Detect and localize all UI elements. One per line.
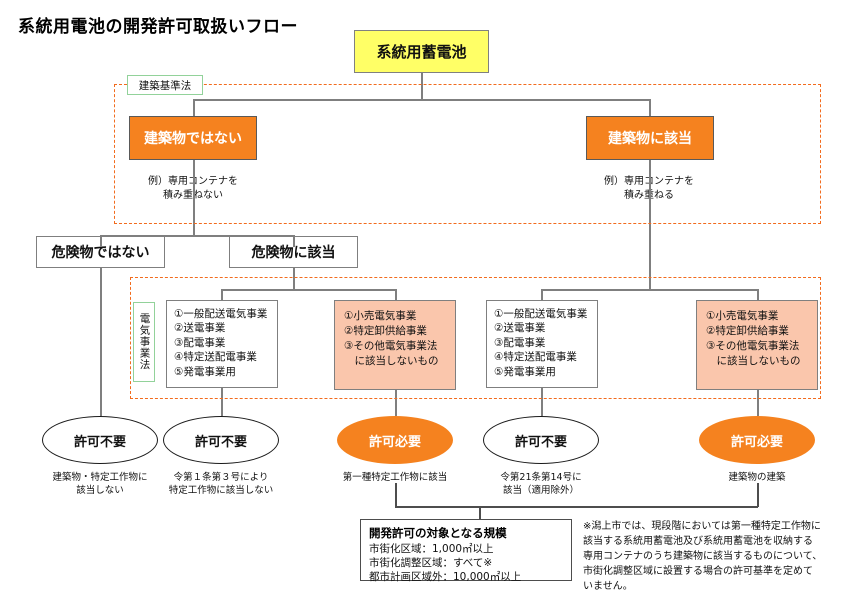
outcome-1-caption: 建築物・特定工作物に 該当しない	[34, 472, 166, 498]
outcome-2-ellipse[interactable]: 許可不要	[163, 416, 279, 464]
outcome-3-label: 許可必要	[369, 431, 421, 450]
connector-scale-bracket-stem	[479, 506, 481, 520]
electricity-law-region	[130, 277, 821, 399]
outcome-1-ellipse[interactable]: 許可不要	[42, 416, 158, 464]
scale-box-line: 都市計画区域外：10,000㎡以上	[369, 570, 563, 584]
outcome-5-label: 許可必要	[731, 431, 783, 450]
scale-box-line: 市街化区域：1,000㎡以上	[369, 542, 563, 556]
connector-outcome3-bracket-down	[395, 483, 397, 507]
outcome-4-label: 許可不要	[515, 431, 567, 450]
page-title: 系統用電池の開発許可取扱いフロー	[18, 12, 298, 37]
outcome-5-ellipse[interactable]: 許可必要	[699, 416, 815, 464]
footnote-text: ※潟上市では、現段階においては第一種特定工作物に 該当する系統用蓄電池及び系統用…	[583, 519, 835, 594]
scale-box-line: 市街化調整区域：すべて※	[369, 556, 563, 570]
connector-level2-bus	[100, 235, 294, 237]
building-law-region	[114, 84, 821, 224]
scale-box: 開発許可の対象となる規模 市街化区域：1,000㎡以上 市街化調整区域：すべて※…	[360, 519, 572, 581]
connector-to-not-hazardous	[100, 235, 102, 247]
outcome-3-ellipse[interactable]: 許可必要	[337, 416, 453, 464]
flowchart-canvas: 系統用電池の開発許可取扱いフロー 系統用蓄電池 建築基準法 電気事業法	[0, 0, 842, 595]
chip-electricity-law: 電気事業法	[133, 302, 155, 382]
outcome-1-label: 許可不要	[74, 431, 126, 450]
connector-not-hazardous-down	[100, 268, 102, 416]
outcome-2-caption: 令第１条第３号により 特定工作物に該当しない	[155, 472, 287, 498]
connector-to-is-hazardous	[293, 235, 295, 247]
chip-electricity-law-label: 電気事業法	[139, 313, 150, 371]
node-root[interactable]: 系統用蓄電池	[354, 30, 489, 73]
scale-box-title: 開発許可の対象となる規模	[369, 525, 563, 541]
node-root-label: 系統用蓄電池	[376, 41, 466, 62]
outcome-4-caption: 令第21条第14号に 該当（適用除外）	[475, 472, 607, 498]
outcome-4-ellipse[interactable]: 許可不要	[483, 416, 599, 464]
chip-building-law-label: 建築基準法	[139, 78, 192, 93]
outcome-2-label: 許可不要	[195, 431, 247, 450]
connector-outcome5-bracket-down	[757, 483, 759, 507]
chip-building-law: 建築基準法	[127, 75, 203, 95]
connector-scale-bracket-bus	[395, 506, 758, 508]
